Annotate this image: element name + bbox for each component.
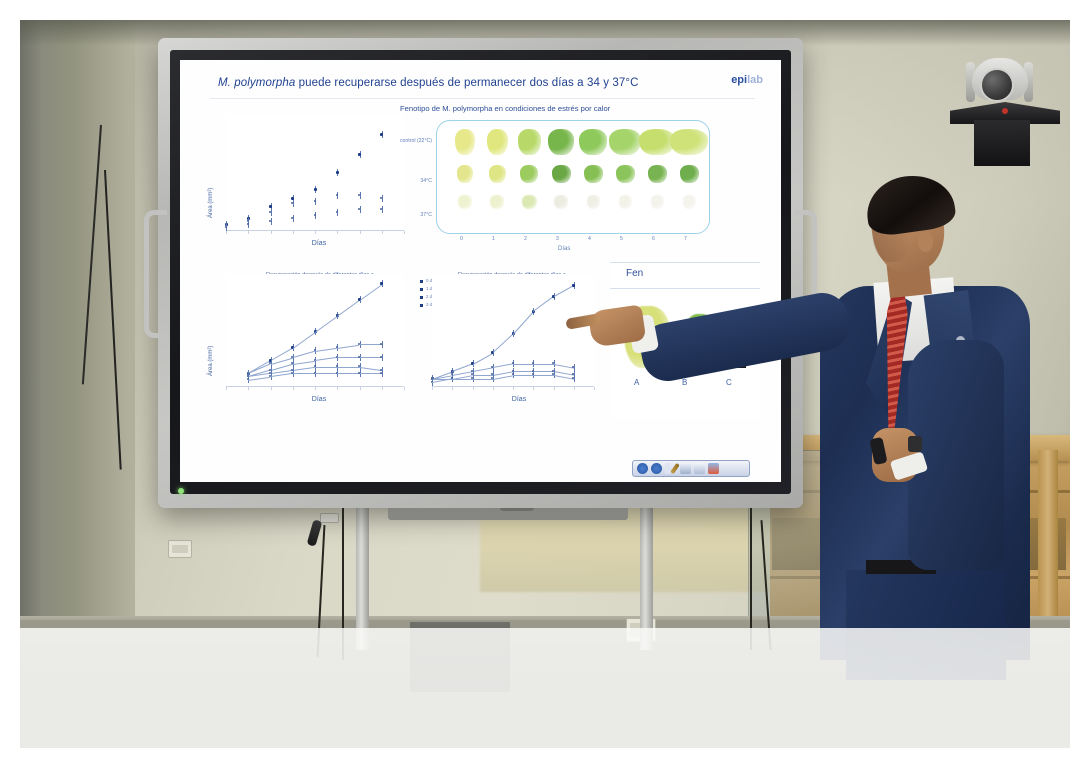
phenotype-plant-image — [487, 129, 508, 155]
series-line — [513, 311, 534, 334]
axis-tick — [382, 387, 383, 390]
axis-tick — [382, 231, 383, 234]
data-point — [314, 188, 317, 191]
axis-tick — [493, 387, 494, 390]
axis-tick — [293, 231, 294, 234]
board-bezel: M. polymorpha puede recuperarse después … — [170, 50, 791, 494]
series-line — [293, 351, 316, 358]
axis-tick — [513, 387, 514, 390]
phenotype-plant-image — [457, 165, 473, 183]
data-point — [314, 200, 316, 202]
data-point — [358, 194, 360, 196]
panel-b-ylabel: Área (mm²) — [208, 346, 214, 376]
axis-tick — [271, 231, 272, 234]
series-line — [337, 300, 360, 317]
error-bar — [574, 375, 575, 382]
ear — [918, 232, 933, 252]
fen-divider-bottom — [610, 288, 760, 289]
highlighter-icon[interactable] — [708, 463, 719, 474]
phenotype-plant-image — [490, 195, 504, 209]
series-line — [472, 352, 493, 364]
data-point — [269, 220, 271, 222]
epilab-logo: epilab — [731, 74, 763, 86]
axis-tick — [554, 387, 555, 390]
phenotype-x-tick: 5 — [620, 236, 623, 242]
phenotype-plant-image — [548, 129, 574, 155]
panel-b-xlabel: Días — [264, 396, 374, 403]
data-point — [358, 153, 361, 156]
screenshot-root: M. polymorpha puede recuperarse después … — [0, 0, 1090, 760]
phenotype-plant-image — [619, 195, 632, 209]
microphone-clip — [320, 513, 339, 523]
axis-tick — [337, 231, 338, 234]
phenotype-panel: Fenotipo de M. polymorpha en condiciones… — [390, 104, 720, 256]
slide-title-rest: puede recuperarse después de permanecer … — [295, 77, 638, 89]
data-point — [336, 171, 339, 174]
phenotype-plant-image — [587, 195, 600, 209]
eraser-icon[interactable] — [680, 463, 691, 474]
series-line — [513, 375, 533, 376]
presentation-slide: M. polymorpha puede recuperarse después … — [180, 60, 781, 482]
axis-tick — [432, 387, 433, 390]
axis-tick — [315, 387, 316, 390]
phenotype-plant-image — [458, 195, 472, 209]
phenotype-x-tick: 6 — [652, 236, 655, 242]
camera-lens-icon — [980, 68, 1014, 102]
phenotype-plant-image — [648, 165, 667, 183]
fen-label-b: B — [682, 378, 687, 387]
phenotype-x-tick: 4 — [588, 236, 591, 242]
axis-tick — [533, 387, 534, 390]
series-line — [315, 316, 338, 333]
wristwatch — [908, 436, 922, 452]
series-line — [492, 334, 513, 353]
series-line — [553, 364, 573, 369]
panel-c: Recuperación después de diferentes días … — [418, 268, 608, 418]
legend-swatch — [420, 296, 423, 299]
phenotype-plant-image — [552, 165, 571, 183]
series-line — [359, 284, 382, 301]
series-line — [337, 344, 359, 348]
fen-title: Fen — [626, 268, 643, 279]
phenotype-plant-image — [554, 195, 568, 209]
camera-led-icon — [1002, 108, 1008, 114]
series-line — [359, 367, 381, 371]
series-line — [553, 375, 573, 380]
data-point — [336, 194, 338, 196]
title-divider — [210, 98, 755, 99]
phenotype-plant-image — [616, 165, 635, 183]
pointing-hand — [588, 304, 646, 347]
fen-label-a: A — [634, 378, 639, 387]
axis-tick — [360, 387, 361, 390]
phenotype-plant-image — [609, 129, 641, 155]
phenotype-x-tick: 1 — [492, 236, 495, 242]
axis-tick — [574, 387, 575, 390]
board-handle-left[interactable] — [144, 210, 167, 338]
panel-c-plot — [432, 274, 594, 386]
caption-banner: Felicidades a José Luis Lorenzo Manzanar… — [20, 628, 1070, 748]
series-line — [270, 373, 292, 377]
series-line — [473, 379, 493, 380]
series-line — [315, 348, 337, 352]
series-line — [360, 344, 382, 345]
phenotype-plant-image — [651, 195, 664, 209]
phenotype-row-label: control (22°C) — [372, 138, 432, 144]
data-point — [336, 211, 338, 213]
phenotype-plant-image — [579, 129, 607, 155]
series-line — [360, 357, 382, 358]
series-line — [473, 375, 493, 376]
axis-tick — [337, 387, 338, 390]
phenotype-plant-image — [518, 129, 541, 155]
phenotype-plant-image — [455, 129, 475, 155]
phenotype-image-grid — [436, 120, 710, 234]
phenotype-plant-image — [520, 165, 538, 183]
pen-icon[interactable] — [670, 463, 680, 474]
series-line — [293, 373, 315, 374]
series-line — [452, 379, 472, 380]
series-line — [337, 373, 359, 374]
axis-tick — [226, 387, 227, 390]
series-line — [315, 373, 337, 374]
data-point — [247, 223, 249, 225]
series-line — [533, 296, 554, 312]
series-line — [493, 364, 513, 369]
power-cable — [750, 490, 752, 650]
next-arrow-icon[interactable] — [651, 463, 662, 474]
series-line — [337, 357, 359, 358]
axis-tick — [226, 231, 227, 234]
board-power-led-icon — [178, 488, 184, 494]
series-line — [248, 376, 270, 380]
prev-arrow-icon[interactable] — [637, 463, 648, 474]
axis-tick — [360, 231, 361, 234]
board-stand-leg — [356, 490, 369, 650]
series-line — [513, 371, 533, 372]
phenotype-plant-image — [680, 165, 699, 183]
series-line — [533, 364, 553, 365]
data-point — [291, 197, 294, 200]
pointer-icon[interactable] — [694, 463, 705, 474]
interactive-whiteboard[interactable]: M. polymorpha puede recuperarse después … — [158, 38, 803, 508]
phenotype-plant-image — [670, 129, 708, 155]
phenotype-xlabel: Días — [558, 246, 570, 252]
panel-b: Área (mm²) Recuperación después de difer… — [204, 268, 414, 418]
legend-swatch — [420, 288, 423, 291]
fen-divider-top — [610, 262, 760, 263]
series-line — [315, 367, 337, 368]
data-point — [380, 133, 383, 136]
cursor-icon[interactable] — [665, 463, 670, 474]
series-line — [533, 375, 553, 376]
legend-swatch — [420, 280, 423, 283]
board-display[interactable]: M. polymorpha puede recuperarse después … — [180, 60, 781, 482]
phenotype-plant-image — [683, 195, 696, 209]
series-line — [292, 332, 315, 349]
panel-c-xlabel: Días — [464, 396, 574, 403]
series-line — [337, 367, 359, 368]
panel-a-xlabel: Días — [264, 240, 374, 247]
phenotype-x-tick: 3 — [556, 236, 559, 242]
phenotype-plant-image — [522, 195, 537, 209]
phenotype-x-tick: 7 — [684, 236, 687, 242]
series-line — [513, 364, 533, 365]
fen-label-c: C — [726, 378, 732, 387]
axis-tick — [293, 387, 294, 390]
data-point — [314, 214, 316, 216]
phenotype-row-label: 37°C — [372, 212, 432, 218]
slide-title-species: M. polymorpha — [218, 77, 295, 89]
data-point — [572, 284, 575, 287]
axis-tick — [248, 387, 249, 390]
series-line — [293, 367, 315, 371]
series-line — [493, 375, 513, 380]
slide-title: M. polymorpha puede recuperarse después … — [218, 76, 678, 90]
panel-a-ylabel: Área (mm²) — [208, 188, 214, 218]
series-line — [472, 367, 492, 372]
axis-tick — [594, 387, 595, 390]
error-bar — [293, 200, 294, 207]
data-point — [225, 226, 227, 228]
board-stand-leg — [640, 490, 653, 650]
phenotype-title: Fenotipo de M. polymorpha en condiciones… — [400, 104, 610, 113]
legend-swatch — [420, 304, 423, 307]
axis-tick — [452, 387, 453, 390]
phenotype-x-tick: 0 — [460, 236, 463, 242]
axis-tick — [315, 231, 316, 234]
presentation-toolbar[interactable] — [632, 460, 750, 477]
wall-socket — [168, 540, 192, 558]
phenotype-x-tick: 2 — [524, 236, 527, 242]
data-point — [380, 197, 382, 199]
wall-left-edge — [20, 20, 42, 660]
axis-tick — [404, 387, 405, 390]
series-line — [293, 360, 315, 364]
phenotype-row-label: 34°C — [372, 178, 432, 184]
phenotype-plant-image — [584, 165, 603, 183]
panel-b-plot — [226, 274, 404, 386]
series-line — [533, 371, 553, 372]
phenotype-plant-image — [489, 165, 506, 183]
data-point — [269, 205, 272, 208]
axis-tick — [248, 231, 249, 234]
axis-tick — [473, 387, 474, 390]
series-line — [360, 373, 382, 374]
series-line — [315, 357, 337, 361]
series-line — [553, 285, 574, 297]
axis-tick — [271, 387, 272, 390]
presenter — [780, 140, 1070, 660]
photograph: M. polymorpha puede recuperarse después … — [20, 20, 1070, 748]
